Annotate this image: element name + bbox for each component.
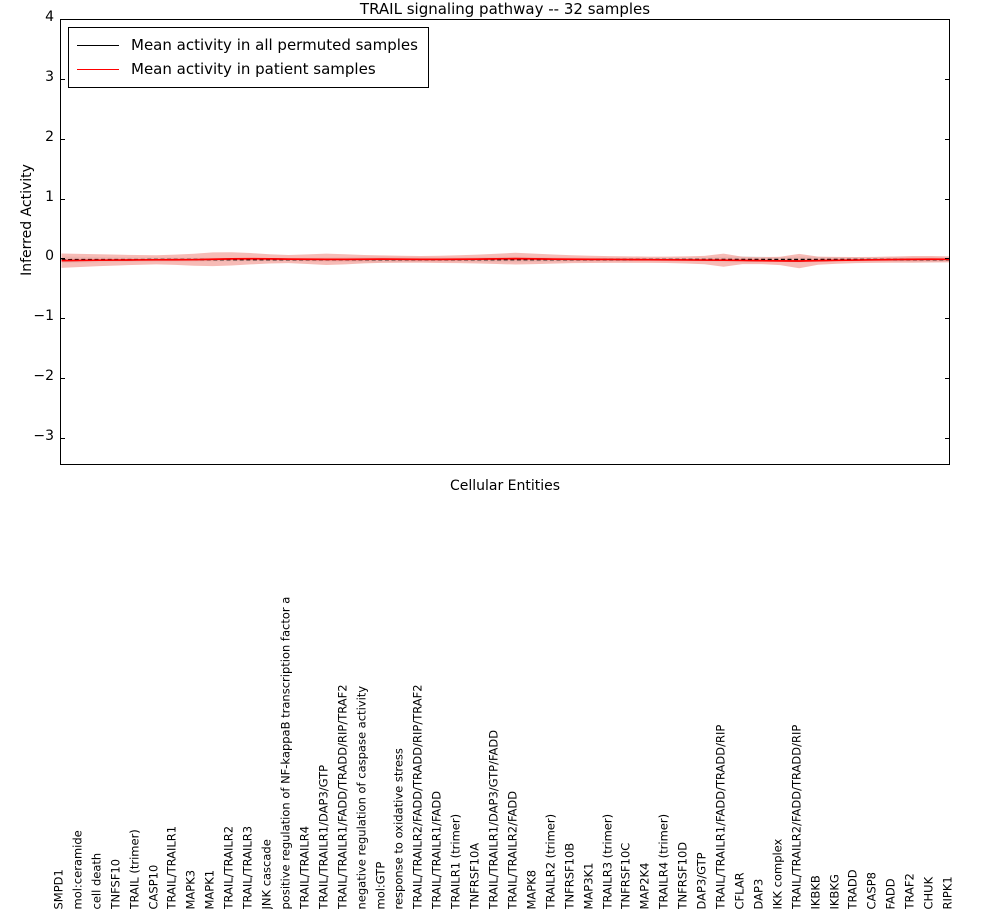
x-tick-label: MAP2K4 [640, 862, 652, 909]
y-tick-mark [60, 79, 65, 80]
x-tick-label: TRAILR1 (trimer) [451, 813, 463, 909]
x-tick-label: MAP3K1 [583, 862, 595, 909]
x-tick-label: CASP10 [148, 864, 160, 909]
legend-label-patient: Mean activity in patient samples [131, 60, 376, 78]
x-axis-label: Cellular Entities [60, 478, 950, 494]
x-tick-label: TRAIL/TRAILR2/FADD [507, 790, 519, 909]
x-tick-label: TNFRSF10D [678, 841, 690, 909]
x-tick-label: TRAIL/TRAILR1/DAP3/GTP [318, 764, 330, 909]
x-tick-label: MAPK8 [526, 869, 538, 909]
y-tick-mark [60, 258, 65, 259]
chart-figure: TRAIL signaling pathway -- 32 samples −3… [0, 0, 1000, 500]
y-axis-label: Inferred Activity [19, 0, 35, 443]
x-tick-label: mol:GTP [375, 861, 387, 909]
legend-swatch-patient [77, 69, 119, 70]
legend-swatch-permuted [77, 45, 119, 46]
x-tick-label: IKBKG [829, 874, 841, 909]
x-tick-label: TRAIL (trimer) [129, 829, 141, 909]
x-tick-label: cell death [91, 852, 103, 909]
x-tick-label: CFLAR [734, 872, 746, 909]
x-tick-label: TRAILR3 (trimer) [602, 813, 614, 909]
x-tick-label: RIPK1 [943, 876, 955, 909]
y-tick-mark [60, 199, 65, 200]
x-tick-label: TRAIL/TRAILR2/FADD/TRADD/RIP/TRAF2 [413, 684, 425, 909]
x-tick-label: TRAIL/TRAILR3 [243, 825, 255, 909]
x-tick-label: TRAILR2 (trimer) [545, 813, 557, 909]
y-tick-mark [945, 318, 950, 319]
x-tick-label: IKBKB [810, 875, 822, 909]
x-tick-label: TNFRSF10C [621, 842, 633, 909]
x-tick-label: TRAIL/TRAILR1 [167, 825, 179, 909]
x-tick-label: TRADD [848, 869, 860, 909]
y-tick-mark [945, 258, 950, 259]
y-tick-mark [945, 378, 950, 379]
x-tick-label: JNK cascade [262, 839, 274, 909]
chart-title: TRAIL signaling pathway -- 32 samples [60, 0, 950, 19]
x-tick-label: TNFRSF10A [470, 842, 482, 909]
x-tick-label: SMPD1 [54, 869, 66, 909]
legend-item-patient: Mean activity in patient samples [77, 57, 418, 81]
chart-legend: Mean activity in all permuted samples Me… [68, 27, 429, 88]
y-tick-mark [60, 139, 65, 140]
legend-label-permuted: Mean activity in all permuted samples [131, 36, 418, 54]
y-tick-mark [60, 378, 65, 379]
x-tick-label: TRAF2 [905, 873, 917, 909]
x-tick-label: negative regulation of caspase activity [356, 685, 368, 909]
x-tick-label: DAP3/GTP [697, 852, 709, 909]
y-tick-mark [60, 438, 65, 439]
x-tick-label: TRAILR4 (trimer) [659, 813, 671, 909]
x-tick-label: response to oxidative stress [394, 748, 406, 909]
y-tick-mark [945, 438, 950, 439]
x-tick-label: DAP3 [753, 878, 765, 909]
x-tick-label: TRAIL/TRAILR1/FADD/TRADD/RIP [716, 724, 728, 909]
y-tick-mark [60, 318, 65, 319]
x-tick-label: TRAIL/TRAILR1/FADD [432, 790, 444, 909]
y-tick-mark [945, 19, 950, 20]
x-tick-label: TNFRSF10B [564, 842, 576, 909]
x-tick-label: positive regulation of NF-kappaB transcr… [280, 596, 292, 909]
x-tick-label: TRAIL/TRAILR2 [224, 825, 236, 909]
x-tick-label: MAPK1 [205, 869, 217, 909]
x-tick-label: mol:ceramide [72, 830, 84, 909]
x-tick-label: TRAIL/TRAILR4 [299, 825, 311, 909]
x-tick-label: IKK complex [772, 838, 784, 909]
y-tick-mark [945, 139, 950, 140]
x-tick-label: TNFSF10 [110, 858, 122, 909]
x-tick-label: TRAIL/TRAILR1/FADD/TRADD/RIP/TRAF2 [337, 684, 349, 909]
x-tick-label: TRAIL/TRAILR2/FADD/TRADD/RIP [791, 724, 803, 909]
x-tick-label: TRAIL/TRAILR1/DAP3/GTP/FADD [489, 729, 501, 909]
x-tick-label: FADD [886, 878, 898, 909]
y-tick-mark [945, 79, 950, 80]
x-tick-label: CASP8 [867, 872, 879, 909]
y-tick-mark [60, 19, 65, 20]
y-tick-mark [945, 199, 950, 200]
x-tick-label: CHUK [924, 876, 936, 909]
legend-item-permuted: Mean activity in all permuted samples [77, 33, 418, 57]
x-tick-label: MAPK3 [186, 869, 198, 909]
